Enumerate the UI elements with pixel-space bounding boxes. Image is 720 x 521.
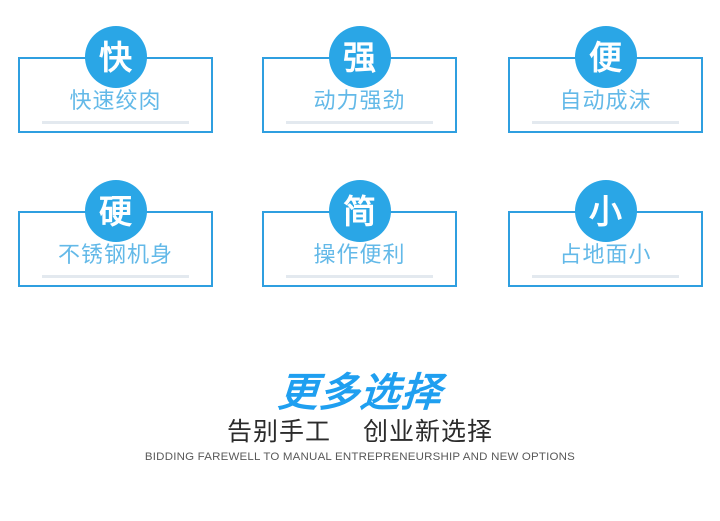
feature-grid: 快 快速绞肉 强 动力强劲 便 自动成沫 (18, 22, 702, 290)
headline-subtitle-right: 创业新选择 (363, 417, 493, 446)
feature-card-simple[interactable]: 简 操作便利 (262, 211, 457, 287)
card-label: 占地面小 (508, 245, 703, 267)
headline-subtitle-left: 告别手工 (227, 417, 331, 446)
headline-title: 更多选择 (0, 372, 720, 414)
feature-card-hard[interactable]: 硬 不锈钢机身 (18, 211, 213, 287)
badge-circle-compact: 小 (575, 180, 637, 242)
headline-english: BIDDING FAREWELL TO MANUAL ENTREPRENEURS… (0, 451, 720, 463)
badge-circle-powerful: 强 (329, 26, 391, 88)
badge-circle-fast: 快 (85, 26, 147, 88)
badge-circle-hard: 硬 (85, 180, 147, 242)
card-label: 操作便利 (262, 245, 457, 267)
badge-char: 强 (343, 41, 376, 74)
feature-card-convenient[interactable]: 便 自动成沫 (508, 57, 703, 133)
badge-char: 硬 (99, 195, 132, 228)
headline-subtitle: 告别手工 创业新选择 (0, 418, 720, 446)
card-label: 快速绞肉 (18, 91, 213, 113)
card-underline (42, 275, 189, 278)
badge-char: 小 (589, 195, 622, 228)
card-underline (286, 121, 433, 124)
card-underline (532, 275, 679, 278)
card-underline (286, 275, 433, 278)
card-underline (532, 121, 679, 124)
feature-card-fast[interactable]: 快 快速绞肉 (18, 57, 213, 133)
headline-block: 更多选择 告别手工 创业新选择 BIDDING FAREWELL TO MANU… (0, 372, 720, 463)
feature-card-compact[interactable]: 小 占地面小 (508, 211, 703, 287)
badge-char: 简 (343, 195, 376, 228)
badge-circle-convenient: 便 (575, 26, 637, 88)
badge-char: 便 (589, 41, 622, 74)
card-label: 动力强劲 (262, 91, 457, 113)
badge-char: 快 (99, 41, 132, 74)
card-underline (42, 121, 189, 124)
promo-banner: 快 快速绞肉 强 动力强劲 便 自动成沫 (0, 0, 720, 521)
feature-card-powerful[interactable]: 强 动力强劲 (262, 57, 457, 133)
card-label: 不锈钢机身 (18, 245, 213, 267)
card-label: 自动成沫 (508, 91, 703, 113)
badge-circle-simple: 简 (329, 180, 391, 242)
